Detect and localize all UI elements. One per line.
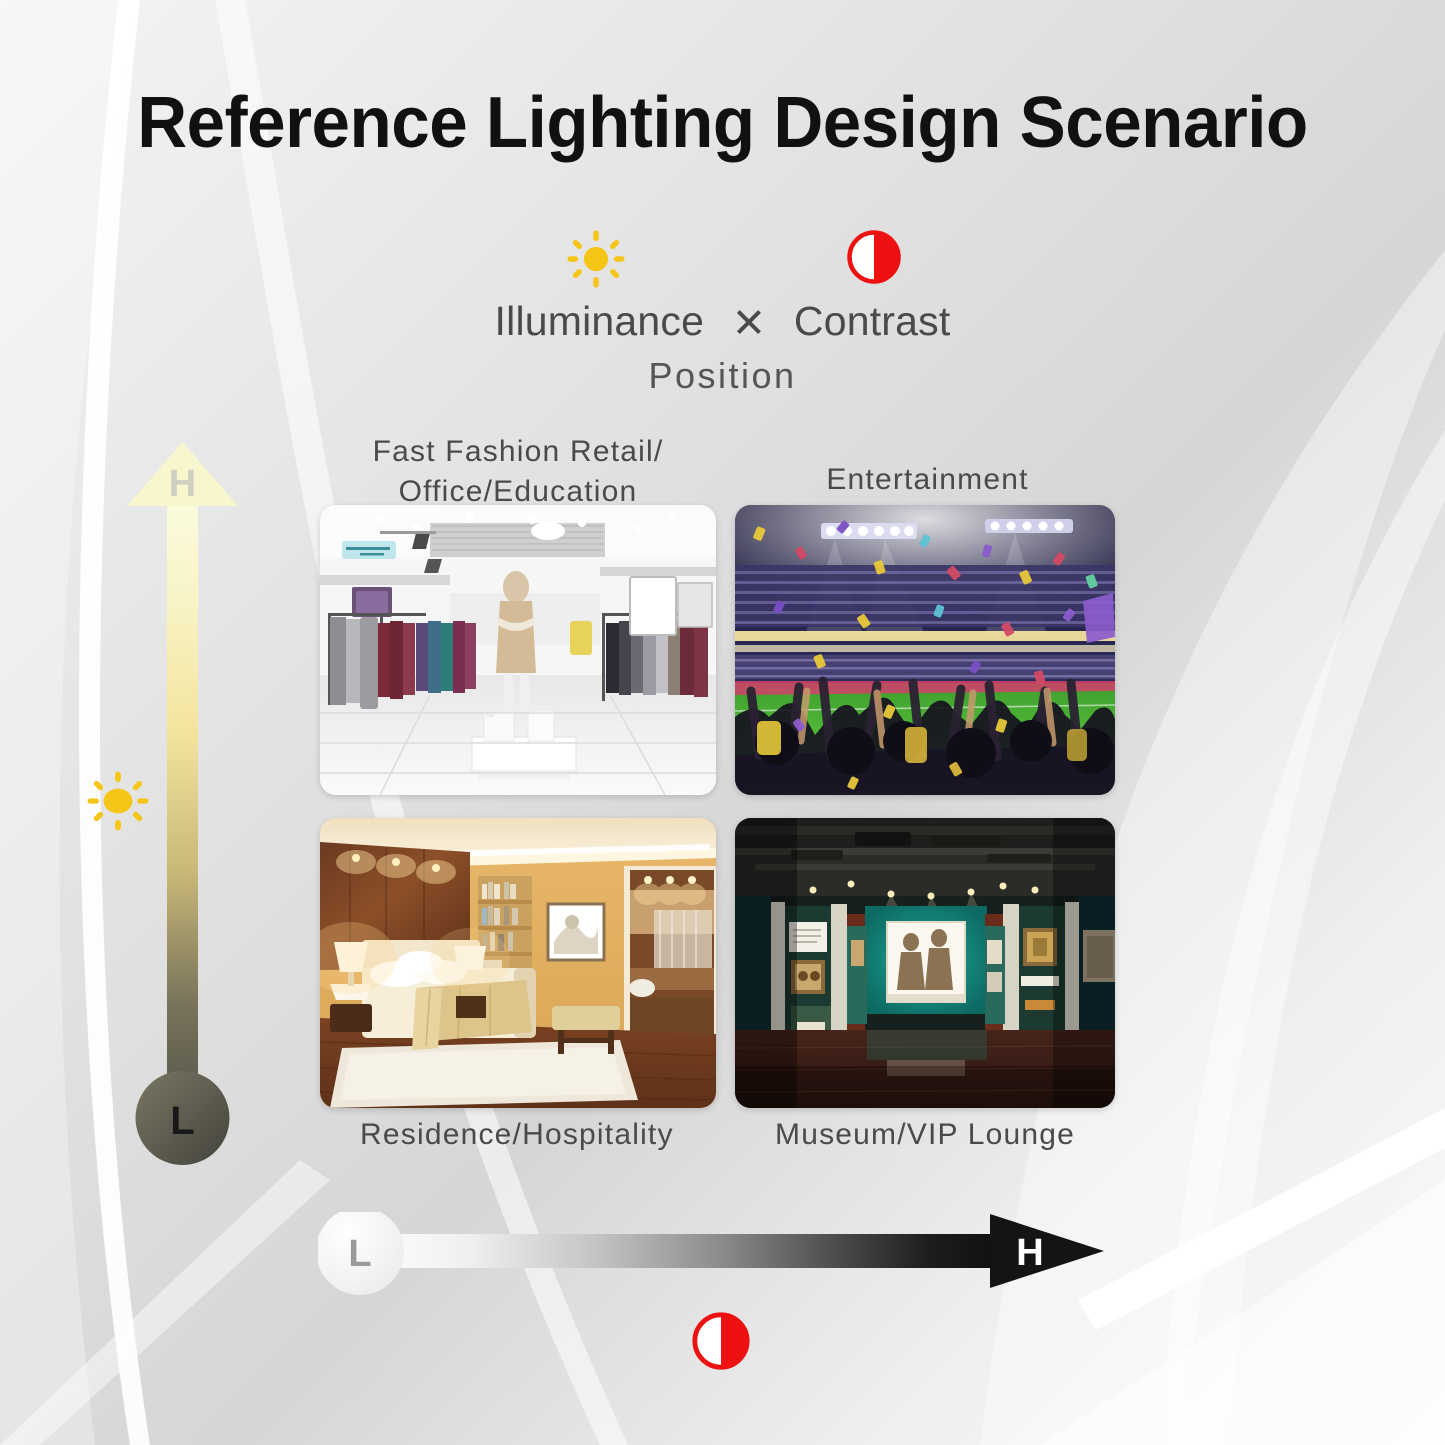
illuminance-high-letter: H [169,463,196,505]
sun-icon [85,768,151,834]
quadrant-label-bottom-left: Residence/Hospitality [318,1115,718,1155]
infographic-canvas: Reference Lighting Design Scenario Illum… [0,0,1445,1445]
contrast-half-circle-icon [845,228,903,286]
contrast-half-circle-icon [690,1310,752,1372]
quadrant-label-top-right: Entertainment [735,460,1120,500]
fast-fashion-retail-store-photo [320,505,716,795]
sun-icon [565,228,627,290]
stadium-entertainment-photo [735,505,1115,795]
contrast-label: Contrast [794,298,951,344]
page-title: Reference Lighting Design Scenario [29,82,1416,164]
contrast-low-letter: L [348,1233,371,1275]
position-label: Position [0,355,1445,397]
hotel-bedroom-photo [320,818,716,1108]
multiply-symbol-icon: ✕ [732,299,767,347]
subtitle-row: Illuminance ✕ Contrast [0,297,1445,345]
museum-gallery-photo [735,818,1115,1108]
quadrant-label-top-left: Fast Fashion Retail/ Office/Education [318,432,718,511]
illuminance-label: Illuminance [495,298,705,344]
contrast-high-letter: H [1016,1232,1043,1274]
quadrant-label-bottom-right: Museum/VIP Lounge [735,1115,1120,1155]
illuminance-low-letter: L [170,1099,194,1143]
